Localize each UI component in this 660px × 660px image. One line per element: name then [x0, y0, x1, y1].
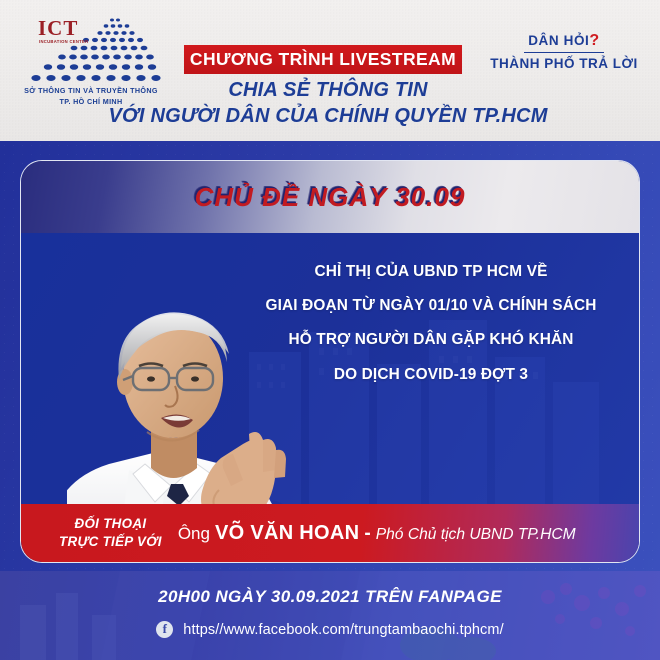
speaker-dash: - [364, 523, 370, 545]
message-line-1: CHỈ THỊ CỦA UBND TP HCM VỀ [226, 255, 636, 289]
speaker-role: Phó Chủ tịch UBND TP.HCM [376, 526, 576, 544]
topic-panel: CHỦ ĐỀ NGÀY 30.09 [20, 160, 640, 563]
facebook-link[interactable]: f https//www.facebook.com/trungtambaochi… [0, 621, 660, 638]
thanh-pho-tra-loi-label: THÀNH PHỐ TRẢ LỜI [478, 56, 650, 71]
topic-date-label: CHỦ ĐỀ NGÀY 30.09 [195, 182, 466, 213]
topic-date-band: CHỦ ĐỀ NGÀY 30.09 [21, 161, 639, 233]
facebook-url[interactable]: https//www.facebook.com/trungtambaochi.t… [183, 622, 503, 638]
logo-ict-text: ICT [38, 18, 78, 39]
livestream-ribbon: CHƯƠNG TRÌNH LIVESTREAM [184, 45, 462, 74]
speaker-honorific: Ông [178, 524, 210, 544]
footer-time-label: 20H00 NGÀY 30.09.2021 TRÊN FANPAGE [0, 587, 660, 607]
speaker-prefix: ĐỐI THOẠI TRỰC TIẾP VỚI [59, 515, 162, 551]
logo-ict-subtext: INCUBATION CENTER [39, 39, 88, 44]
footer-decorative-art [0, 571, 660, 660]
speaker-prefix-line1: ĐỐI THOẠI [59, 515, 162, 533]
question-mark-icon: ? [589, 32, 599, 49]
dan-hoi-block: DÂN HỎI? THÀNH PHỐ TRẢ LỜI [478, 32, 650, 71]
program-headline: CHIA SẺ THÔNG TIN VỚI NGƯỜI DÂN CỦA CHÍN… [108, 78, 548, 129]
speaker-prefix-line2: TRỰC TIẾP VỚI [59, 533, 162, 551]
livestream-poster: ICT INCUBATION CENTER SỞ THÔNG TIN VÀ TR… [0, 0, 660, 660]
header-bar: ICT INCUBATION CENTER SỞ THÔNG TIN VÀ TR… [0, 0, 660, 141]
speaker-identity: Ông VÕ VĂN HOAN - Phó Chủ tịch UBND TP.H… [178, 522, 576, 545]
topic-content-area: CHỈ THỊ CỦA UBND TP HCM VỀ GIAI ĐOẠN TỪ … [21, 233, 639, 562]
speaker-name: VÕ VĂN HOAN [215, 522, 359, 545]
speaker-bar: ĐỐI THOẠI TRỰC TIẾP VỚI Ông VÕ VĂN HOAN … [21, 504, 639, 562]
headline-line-1: CHIA SẺ THÔNG TIN [108, 78, 548, 104]
headline-line-2: VỚI NGƯỜI DÂN CỦA CHÍNH QUYỀN TP.HCM [108, 104, 548, 130]
dan-hoi-label: DÂN HỎI? [524, 32, 604, 53]
logo-mark: ICT INCUBATION CENTER [16, 14, 166, 86]
livestream-ribbon-label: CHƯƠNG TRÌNH LIVESTREAM [190, 49, 456, 70]
facebook-icon: f [156, 621, 173, 638]
footer-bar: 20H00 NGÀY 30.09.2021 TRÊN FANPAGE f htt… [0, 571, 660, 660]
